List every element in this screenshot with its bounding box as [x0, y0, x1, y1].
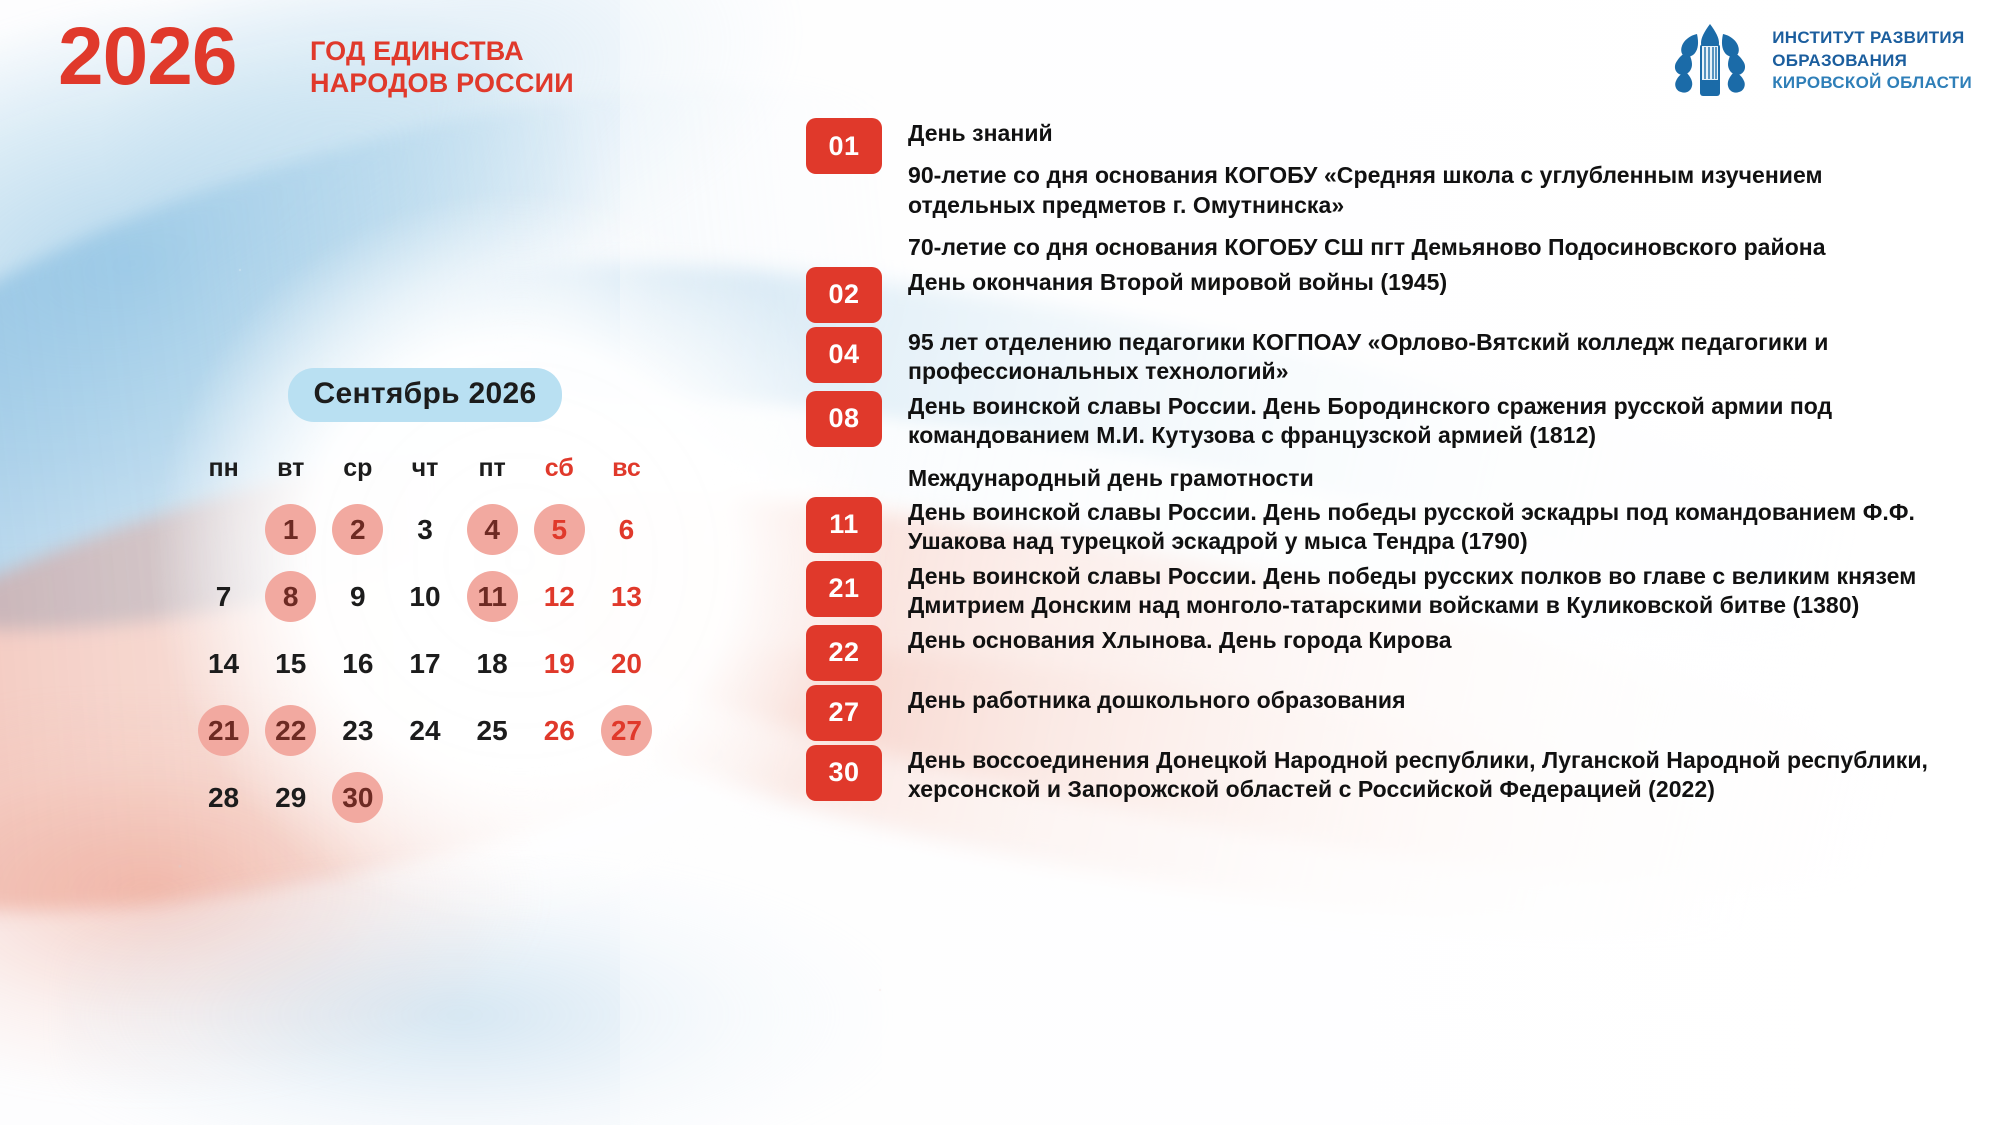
event-description: День воинской славы России. День победы …	[908, 498, 1936, 557]
logo-text: ИНСТИТУТ РАЗВИТИЯ ОБРАЗОВАНИЯ КИРОВСКОЙ …	[1772, 27, 1972, 95]
calendar-empty-cell	[190, 501, 257, 558]
calendar-day-2[interactable]: 2	[332, 504, 383, 555]
event-day-badge-04[interactable]: 04	[806, 327, 882, 383]
institute-logo-icon	[1664, 22, 1756, 100]
calendar-day-cell[interactable]: 27	[593, 702, 660, 759]
header-subtitle-line-1: ГОД ЕДИНСТВА	[310, 36, 574, 68]
calendar-day-cell[interactable]: 10	[391, 568, 458, 625]
calendar-day-cell[interactable]: 18	[459, 635, 526, 692]
calendar-day-17[interactable]: 17	[399, 638, 450, 689]
month-calendar: Сентябрь 2026 пнвтсрчтптсбвс123456789101…	[190, 368, 660, 826]
event-description: День основания Хлынова. День города Киро…	[908, 626, 1452, 655]
calendar-day-cell[interactable]: 28	[190, 769, 257, 826]
event-item[interactable]: 01День знаний90-летие со дня основания К…	[806, 118, 1936, 263]
calendar-day-cell[interactable]: 2	[324, 501, 391, 558]
event-day-badge-08[interactable]: 08	[806, 391, 882, 447]
calendar-day-cell[interactable]: 23	[324, 702, 391, 759]
weekday-header-пт: пт	[459, 454, 526, 491]
calendar-day-cell[interactable]: 15	[257, 635, 324, 692]
calendar-day-cell[interactable]: 6	[593, 501, 660, 558]
calendar-day-cell[interactable]: 19	[526, 635, 593, 692]
calendar-day-cell[interactable]: 1	[257, 501, 324, 558]
calendar-day-cell[interactable]: 8	[257, 568, 324, 625]
event-item[interactable]: 11День воинской славы России. День побед…	[806, 497, 1936, 557]
calendar-day-cell[interactable]: 13	[593, 568, 660, 625]
calendar-day-12[interactable]: 12	[534, 571, 585, 622]
calendar-day-18[interactable]: 18	[467, 638, 518, 689]
calendar-day-22[interactable]: 22	[265, 705, 316, 756]
calendar-day-cell[interactable]: 16	[324, 635, 391, 692]
calendar-day-4[interactable]: 4	[467, 504, 518, 555]
event-day-badge-21[interactable]: 21	[806, 561, 882, 617]
logo-text-line-2: ОБРАЗОВАНИЯ	[1772, 50, 1972, 73]
calendar-day-cell[interactable]: 14	[190, 635, 257, 692]
event-day-badge-30[interactable]: 30	[806, 745, 882, 801]
event-item[interactable]: 30День воссоединения Донецкой Народной р…	[806, 745, 1936, 805]
weekday-header-вс: вс	[593, 454, 660, 491]
header-subtitle-line-2: НАРОДОВ РОССИИ	[310, 68, 574, 100]
event-description-block: День знаний90-летие со дня основания КОГ…	[908, 118, 1936, 263]
events-list: 01День знаний90-летие со дня основания К…	[806, 118, 1936, 809]
logo-text-line-1: ИНСТИТУТ РАЗВИТИЯ	[1772, 27, 1972, 50]
calendar-day-3[interactable]: 3	[399, 504, 450, 555]
calendar-day-cell[interactable]: 11	[459, 568, 526, 625]
calendar-day-15[interactable]: 15	[265, 638, 316, 689]
calendar-month-title: Сентябрь 2026	[288, 368, 563, 422]
year-title: 2026	[58, 16, 236, 98]
event-description: День воинской славы России. День Бородин…	[908, 392, 1936, 451]
calendar-day-13[interactable]: 13	[601, 571, 652, 622]
calendar-day-10[interactable]: 10	[399, 571, 450, 622]
calendar-day-8[interactable]: 8	[265, 571, 316, 622]
event-description: 90-летие со дня основания КОГОБУ «Средня…	[908, 161, 1936, 220]
event-description: 70-летие со дня основания КОГОБУ СШ пгт …	[908, 233, 1936, 262]
event-description: 95 лет отделению педагогики КОГПОАУ «Орл…	[908, 328, 1936, 387]
event-day-badge-01[interactable]: 01	[806, 118, 882, 174]
event-description: День работника дошкольного образования	[908, 686, 1406, 715]
calendar-day-6[interactable]: 6	[601, 504, 652, 555]
event-day-badge-22[interactable]: 22	[806, 625, 882, 681]
calendar-day-cell[interactable]: 17	[391, 635, 458, 692]
calendar-day-cell[interactable]: 4	[459, 501, 526, 558]
calendar-day-1[interactable]: 1	[265, 504, 316, 555]
calendar-day-9[interactable]: 9	[332, 571, 383, 622]
calendar-day-28[interactable]: 28	[198, 772, 249, 823]
calendar-day-27[interactable]: 27	[601, 705, 652, 756]
poster-root: 2026 ГОД ЕДИНСТВА НАРОДОВ РОССИИ	[0, 0, 2000, 1125]
calendar-day-5[interactable]: 5	[534, 504, 585, 555]
header-subtitle: ГОД ЕДИНСТВА НАРОДОВ РОССИИ	[310, 36, 574, 100]
event-item[interactable]: 08День воинской славы России. День Бород…	[806, 391, 1936, 493]
poster-header: 2026 ГОД ЕДИНСТВА НАРОДОВ РОССИИ	[0, 0, 2000, 120]
weekday-header-ср: ср	[324, 454, 391, 491]
calendar-day-14[interactable]: 14	[198, 638, 249, 689]
calendar-day-cell[interactable]: 7	[190, 568, 257, 625]
event-description-block: День окончания Второй мировой войны (194…	[908, 267, 1447, 297]
calendar-day-19[interactable]: 19	[534, 638, 585, 689]
calendar-day-cell[interactable]: 26	[526, 702, 593, 759]
calendar-day-cell[interactable]: 21	[190, 702, 257, 759]
calendar-day-21[interactable]: 21	[198, 705, 249, 756]
calendar-day-cell[interactable]: 12	[526, 568, 593, 625]
calendar-day-16[interactable]: 16	[332, 638, 383, 689]
event-description: Международный день грамотности	[908, 464, 1936, 493]
calendar-day-24[interactable]: 24	[399, 705, 450, 756]
calendar-day-26[interactable]: 26	[534, 705, 585, 756]
calendar-day-23[interactable]: 23	[332, 705, 383, 756]
weekday-header-сб: сб	[526, 454, 593, 491]
calendar-grid: пнвтсрчтптсбвс12345678910111213141516171…	[190, 454, 660, 826]
event-item[interactable]: 21День воинской славы России. День побед…	[806, 561, 1936, 621]
calendar-day-25[interactable]: 25	[467, 705, 518, 756]
calendar-day-cell[interactable]: 22	[257, 702, 324, 759]
event-description: День знаний	[908, 119, 1936, 148]
event-description-block: День воинской славы России. День победы …	[908, 497, 1936, 557]
event-item[interactable]: 22День основания Хлынова. День города Ки…	[806, 625, 1936, 681]
calendar-day-cell[interactable]: 24	[391, 702, 458, 759]
event-description-block: День работника дошкольного образования	[908, 685, 1406, 715]
calendar-day-11[interactable]: 11	[467, 571, 518, 622]
calendar-day-cell[interactable]: 5	[526, 501, 593, 558]
calendar-day-cell[interactable]: 29	[257, 769, 324, 826]
logo: ИНСТИТУТ РАЗВИТИЯ ОБРАЗОВАНИЯ КИРОВСКОЙ …	[1664, 22, 1972, 100]
event-item[interactable]: 27День работника дошкольного образования	[806, 685, 1936, 741]
event-item[interactable]: 0495 лет отделению педагогики КОГПОАУ «О…	[806, 327, 1936, 387]
weekday-header-вт: вт	[257, 454, 324, 491]
calendar-day-7[interactable]: 7	[198, 571, 249, 622]
watercolor-blue-bottom	[60, 850, 1060, 1125]
event-description-block: 95 лет отделению педагогики КОГПОАУ «Орл…	[908, 327, 1936, 387]
calendar-day-cell[interactable]: 30	[324, 769, 391, 826]
event-description: День воинской славы России. День победы …	[908, 562, 1936, 621]
event-description-block: День воссоединения Донецкой Народной рес…	[908, 745, 1936, 805]
event-description-block: День воинской славы России. День победы …	[908, 561, 1936, 621]
calendar-day-cell[interactable]: 9	[324, 568, 391, 625]
calendar-day-29[interactable]: 29	[265, 772, 316, 823]
event-description-block: День воинской славы России. День Бородин…	[908, 391, 1936, 493]
event-description-block: День основания Хлынова. День города Киро…	[908, 625, 1452, 655]
event-day-badge-27[interactable]: 27	[806, 685, 882, 741]
event-description: День воссоединения Донецкой Народной рес…	[908, 746, 1936, 805]
weekday-header-чт: чт	[391, 454, 458, 491]
event-item[interactable]: 02День окончания Второй мировой войны (1…	[806, 267, 1936, 323]
calendar-day-cell[interactable]: 3	[391, 501, 458, 558]
weekday-header-пн: пн	[190, 454, 257, 491]
logo-text-line-3: КИРОВСКОЙ ОБЛАСТИ	[1772, 72, 1972, 95]
event-description: День окончания Второй мировой войны (194…	[908, 268, 1447, 297]
calendar-day-30[interactable]: 30	[332, 772, 383, 823]
calendar-day-cell[interactable]: 20	[593, 635, 660, 692]
calendar-day-20[interactable]: 20	[601, 638, 652, 689]
event-day-badge-02[interactable]: 02	[806, 267, 882, 323]
event-day-badge-11[interactable]: 11	[806, 497, 882, 553]
calendar-title-wrap: Сентябрь 2026	[190, 368, 660, 422]
calendar-day-cell[interactable]: 25	[459, 702, 526, 759]
